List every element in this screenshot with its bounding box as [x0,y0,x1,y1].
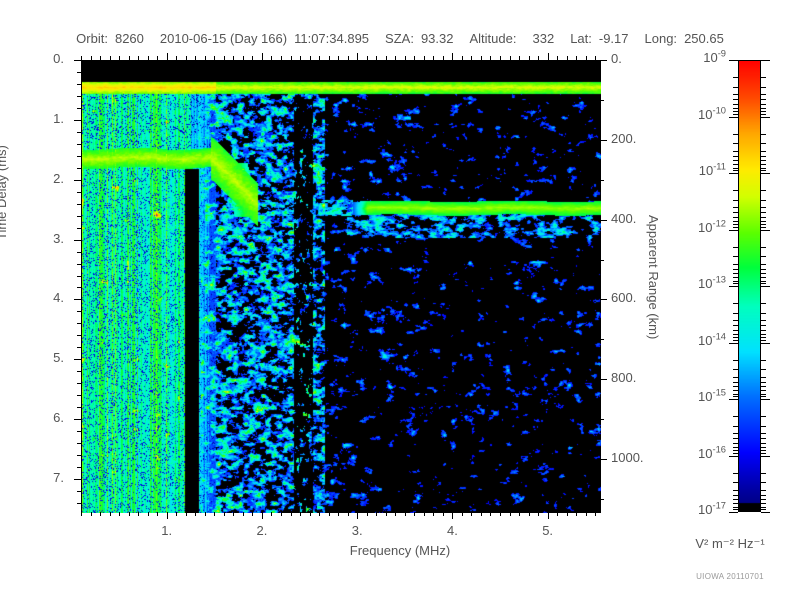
colorbar-tick-label: 10-13 [660,276,726,291]
y-right-minor-tick [600,499,604,500]
x-top-tick [471,56,472,60]
y-left-minor-tick [77,72,81,73]
colorbar-minor-tick [733,77,738,78]
colorbar-minor-tick [761,495,766,496]
colorbar-minor-tick [761,473,766,474]
colorbar-minor-tick [761,509,766,510]
y-left-minor-tick [77,491,81,492]
colorbar-minor-tick [761,269,766,270]
colorbar-tick-label: 10-10 [660,107,726,122]
x-top-tick [81,56,82,60]
x-minor-tick [243,512,244,516]
colorbar-tick-label: 10-11 [660,163,726,178]
x-major-tick [548,512,549,519]
lat-label: Lat: [570,31,592,46]
x-minor-tick [291,512,292,516]
colorbar-minor-tick [733,273,738,274]
colorbar-minor-tick [761,334,766,335]
x-top-tick [443,56,444,60]
colorbar-minor-tick [733,212,738,213]
colorbar-minor-tick [733,111,738,112]
x-minor-tick [567,512,568,516]
y-left-minor-tick [77,204,81,205]
colorbar-minor-tick [733,360,738,361]
altitude-value: 332 [532,31,554,46]
colorbar-minor-tick [733,217,738,218]
y-left-minor-tick [77,407,81,408]
x-top-tick [167,53,168,60]
colorbar-minor-tick [733,160,738,161]
y-right-tick-label: 800. [611,370,636,385]
y-left-minor-tick [77,395,81,396]
colorbar-minor-tick [761,207,766,208]
long-label: Long: [645,31,678,46]
x-minor-tick [529,512,530,516]
colorbar-minor-tick [761,503,766,504]
x-minor-tick [281,512,282,516]
x-major-tick [167,512,168,519]
x-major-tick [357,512,358,519]
colorbar-minor-tick [761,377,766,378]
x-minor-tick [433,512,434,516]
x-minor-tick [405,512,406,516]
colorbar-minor-tick [761,396,766,397]
colorbar-major-tick [761,230,770,231]
x-minor-tick [386,512,387,516]
x-minor-tick [519,512,520,516]
y-left-major-tick [74,240,81,241]
y-left-minor-tick [77,264,81,265]
y-left-tick-label: 6. [38,410,64,425]
colorbar-minor-tick [733,221,738,222]
colorbar-major-tick [761,456,770,457]
orbit-label: Orbit: [76,31,108,46]
x-minor-tick [510,512,511,516]
colorbar-minor-tick [761,164,766,165]
y-left-tick-label: 0. [38,51,64,66]
colorbar-minor-tick [761,143,766,144]
x-minor-tick [310,512,311,516]
colorbar-tick-label: 10-14 [660,333,726,348]
colorbar-minor-tick [733,396,738,397]
x-top-tick [100,56,101,60]
colorbar-minor-tick [733,134,738,135]
colorbar-minor-tick [733,151,738,152]
x-top-tick [576,56,577,60]
colorbar-minor-tick [733,114,738,115]
x-minor-tick [490,512,491,516]
colorbar-minor-tick [761,369,766,370]
colorbar-minor-tick [733,377,738,378]
x-minor-tick [271,512,272,516]
x-top-tick [529,56,530,60]
colorbar-minor-tick [733,330,738,331]
x-minor-tick [300,512,301,516]
colorbar-minor-tick [733,269,738,270]
colorbar-minor-tick [761,108,766,109]
x-top-tick [595,56,596,60]
colorbar-minor-tick [761,277,766,278]
x-minor-tick [443,512,444,516]
colorbar-minor-tick [733,499,738,500]
x-top-tick [243,56,244,60]
colorbar-minor-tick [761,281,766,282]
colorbar-minor-tick [761,443,766,444]
colorbar-minor-tick [761,170,766,171]
x-minor-tick [414,512,415,516]
colorbar-minor-tick [761,325,766,326]
x-minor-tick [110,512,111,516]
x-minor-tick [576,512,577,516]
y-right-major-tick [600,299,607,300]
x-minor-tick [157,512,158,516]
x-minor-tick [471,512,472,516]
x-minor-tick [319,512,320,516]
colorbar-tick-label: 10-15 [660,389,726,404]
y-left-minor-tick [77,96,81,97]
colorbar-minor-tick [761,217,766,218]
x-top-tick [510,56,511,60]
colorbar-major-tick [761,343,770,344]
colorbar-major-tick [761,399,770,400]
y-left-tick-label: 2. [38,171,64,186]
colorbar-minor-tick [761,490,766,491]
colorbar-minor-tick [733,281,738,282]
x-minor-tick [214,512,215,516]
y-right-tick-label: 400. [611,211,636,226]
colorbar-minor-tick [761,168,766,169]
x-minor-tick [462,512,463,516]
y-right-minor-tick [600,339,604,340]
colorbar-minor-tick [733,450,738,451]
x-top-tick [348,56,349,60]
y-right-major-tick [600,459,607,460]
colorbar-major-tick [729,399,738,400]
colorbar-minor-tick [733,200,738,201]
observation-time: 11:07:34.895 [294,31,369,46]
x-minor-tick [557,512,558,516]
colorbar-major-tick [729,173,738,174]
y-left-major-tick [74,419,81,420]
x-top-tick [233,56,234,60]
colorbar-minor-tick [733,369,738,370]
colorbar-minor-tick [733,443,738,444]
y-left-minor-tick [77,383,81,384]
x-top-tick [319,56,320,60]
colorbar-minor-tick [733,104,738,105]
colorbar-minor-tick [761,360,766,361]
x-top-tick [148,56,149,60]
y-left-minor-tick [77,467,81,468]
x-top-tick [291,56,292,60]
colorbar-minor-tick [761,114,766,115]
colorbar-wrap [738,60,761,512]
colorbar [738,60,761,512]
x-minor-tick [348,512,349,516]
y-axis-left-title: Time Delay (ms) [0,145,9,240]
x-top-tick [110,56,111,60]
y-left-major-tick [74,299,81,300]
colorbar-minor-tick [761,200,766,201]
colorbar-minor-tick [761,453,766,454]
y-left-major-tick [74,180,81,181]
colorbar-minor-tick [733,490,738,491]
colorbar-minor-tick [733,503,738,504]
y-left-tick-label: 4. [38,290,64,305]
altitude-label: Altitude: [470,31,517,46]
colorbar-minor-tick [761,156,766,157]
x-top-tick [376,56,377,60]
x-minor-tick [595,512,596,516]
y-right-minor-tick [600,260,604,261]
colorbar-major-tick [761,286,770,287]
colorbar-minor-tick [733,87,738,88]
colorbar-minor-tick [761,320,766,321]
x-minor-tick [205,512,206,516]
colorbar-minor-tick [761,134,766,135]
x-top-tick [500,56,501,60]
colorbar-minor-tick [733,156,738,157]
y-right-minor-tick [600,180,604,181]
colorbar-minor-tick [733,164,738,165]
colorbar-minor-tick [761,99,766,100]
x-tick-label: 4. [438,523,466,538]
credit-footer: UIOWA 20110701 [660,572,800,581]
x-minor-tick [329,512,330,516]
colorbar-minor-tick [761,247,766,248]
y-right-tick-label: 0. [611,51,622,66]
colorbar-minor-tick [733,168,738,169]
colorbar-minor-tick [761,438,766,439]
colorbar-minor-tick [761,507,766,508]
x-minor-tick [586,512,587,516]
y-right-tick-label: 600. [611,290,636,305]
x-top-tick [586,56,587,60]
y-left-minor-tick [77,132,81,133]
y-left-minor-tick [77,347,81,348]
x-minor-tick [224,512,225,516]
long-value: 250.65 [684,31,724,46]
colorbar-minor-tick [733,247,738,248]
y-left-minor-tick [77,323,81,324]
x-top-tick [395,56,396,60]
x-top-tick [567,56,568,60]
y-right-tick-label: 200. [611,131,636,146]
y-left-minor-tick [77,287,81,288]
colorbar-minor-tick [733,386,738,387]
colorbar-minor-tick [733,447,738,448]
colorbar-minor-tick [733,256,738,257]
x-top-tick [519,56,520,60]
colorbar-minor-tick [761,227,766,228]
x-top-tick [262,53,263,60]
colorbar-minor-tick [733,495,738,496]
y-right-major-tick [600,140,607,141]
x-top-tick [329,56,330,60]
colorbar-minor-tick [733,170,738,171]
colorbar-minor-tick [761,303,766,304]
x-top-tick [300,56,301,60]
colorbar-minor-tick [761,212,766,213]
colorbar-minor-tick [733,438,738,439]
x-top-tick [538,56,539,60]
spectrogram-canvas [82,61,601,513]
y-left-minor-tick [77,192,81,193]
x-tick-label: 3. [343,523,371,538]
y-left-minor-tick [77,144,81,145]
colorbar-minor-tick [733,482,738,483]
y-left-tick-label: 3. [38,231,64,246]
x-top-tick [138,56,139,60]
x-top-tick [271,56,272,60]
x-top-tick [281,56,282,60]
colorbar-major-tick [761,512,770,513]
colorbar-minor-tick [733,303,738,304]
colorbar-minor-tick [733,433,738,434]
colorbar-major-tick [761,117,770,118]
y-left-major-tick [74,120,81,121]
colorbar-minor-tick [733,507,738,508]
colorbar-minor-tick [733,224,738,225]
orbit-value: 8260 [115,31,144,46]
x-minor-tick [338,512,339,516]
colorbar-major-tick [761,60,770,61]
y-right-minor-tick [600,100,604,101]
x-minor-tick [91,512,92,516]
colorbar-minor-tick [733,94,738,95]
x-minor-tick [129,512,130,516]
y-left-minor-tick [77,84,81,85]
colorbar-minor-tick [761,283,766,284]
colorbar-minor-tick [761,104,766,105]
colorbar-minor-tick [733,473,738,474]
x-major-tick [262,512,263,519]
x-top-tick [462,56,463,60]
observation-date: 2010-06-15 (Day 166) [160,31,287,46]
colorbar-minor-tick [733,313,738,314]
colorbar-minor-tick [733,227,738,228]
x-top-tick [414,56,415,60]
y-right-minor-tick [600,419,604,420]
x-top-tick [405,56,406,60]
colorbar-minor-tick [761,313,766,314]
y-left-minor-tick [77,168,81,169]
colorbar-minor-tick [761,77,766,78]
x-tick-label: 2. [248,523,276,538]
colorbar-minor-tick [733,108,738,109]
x-tick-label: 1. [153,523,181,538]
y-left-minor-tick [77,335,81,336]
x-minor-tick [176,512,177,516]
x-top-tick [548,53,549,60]
y-left-minor-tick [77,371,81,372]
colorbar-minor-tick [733,382,738,383]
colorbar-minor-tick [733,143,738,144]
colorbar-minor-tick [733,283,738,284]
colorbar-major-tick [729,286,738,287]
colorbar-major-tick [729,512,738,513]
x-minor-tick [500,512,501,516]
y-left-minor-tick [77,443,81,444]
colorbar-minor-tick [761,450,766,451]
colorbar-minor-tick [761,94,766,95]
y-left-tick-label: 1. [38,111,64,126]
x-top-tick [157,56,158,60]
colorbar-minor-tick [733,277,738,278]
x-top-tick [490,56,491,60]
colorbar-minor-tick [733,426,738,427]
colorbar-minor-tick [733,340,738,341]
x-top-tick [119,56,120,60]
colorbar-minor-tick [761,190,766,191]
y-left-minor-tick [77,228,81,229]
colorbar-minor-tick [761,416,766,417]
colorbar-units-label: V² m⁻² Hz⁻¹ [660,536,800,552]
colorbar-minor-tick [733,337,738,338]
colorbar-major-tick [729,456,738,457]
y-axis-right-title: Apparent Range (km) [646,215,661,339]
y-left-minor-tick [77,276,81,277]
colorbar-minor-tick [761,256,766,257]
y-right-tick-label: 1000. [611,450,644,465]
colorbar-minor-tick [761,273,766,274]
x-top-tick [129,56,130,60]
lat-value: -9.17 [599,31,629,46]
x-minor-tick [538,512,539,516]
y-left-tick-label: 5. [38,350,64,365]
x-minor-tick [233,512,234,516]
x-top-tick [205,56,206,60]
y-right-major-tick [600,220,607,221]
colorbar-minor-tick [733,394,738,395]
x-minor-tick [424,512,425,516]
y-left-major-tick [74,479,81,480]
colorbar-minor-tick [733,190,738,191]
ionogram-page: Orbit:82602010-06-15 (Day 166)11:07:34.8… [0,0,800,600]
colorbar-major-tick [729,343,738,344]
colorbar-minor-tick [761,447,766,448]
colorbar-minor-tick [761,433,766,434]
x-minor-tick [252,512,253,516]
x-minor-tick [100,512,101,516]
colorbar-minor-tick [733,207,738,208]
x-minor-tick [195,512,196,516]
colorbar-minor-tick [761,337,766,338]
colorbar-minor-tick [761,160,766,161]
colorbar-minor-tick [733,264,738,265]
x-top-tick [424,56,425,60]
x-top-tick [186,56,187,60]
colorbar-minor-tick [761,482,766,483]
x-top-tick [357,53,358,60]
x-top-tick [433,56,434,60]
colorbar-minor-tick [733,325,738,326]
x-top-tick [367,56,368,60]
colorbar-minor-tick [761,394,766,395]
y-left-minor-tick [77,311,81,312]
colorbar-minor-tick [761,386,766,387]
x-major-tick [452,512,453,519]
colorbar-tick-label: 10-16 [660,446,726,461]
colorbar-minor-tick [733,453,738,454]
colorbar-minor-tick [761,340,766,341]
y-left-minor-tick [77,252,81,253]
colorbar-minor-tick [761,87,766,88]
ionogram-plot-area[interactable] [81,60,600,512]
colorbar-minor-tick [761,264,766,265]
x-minor-tick [148,512,149,516]
x-top-tick [338,56,339,60]
